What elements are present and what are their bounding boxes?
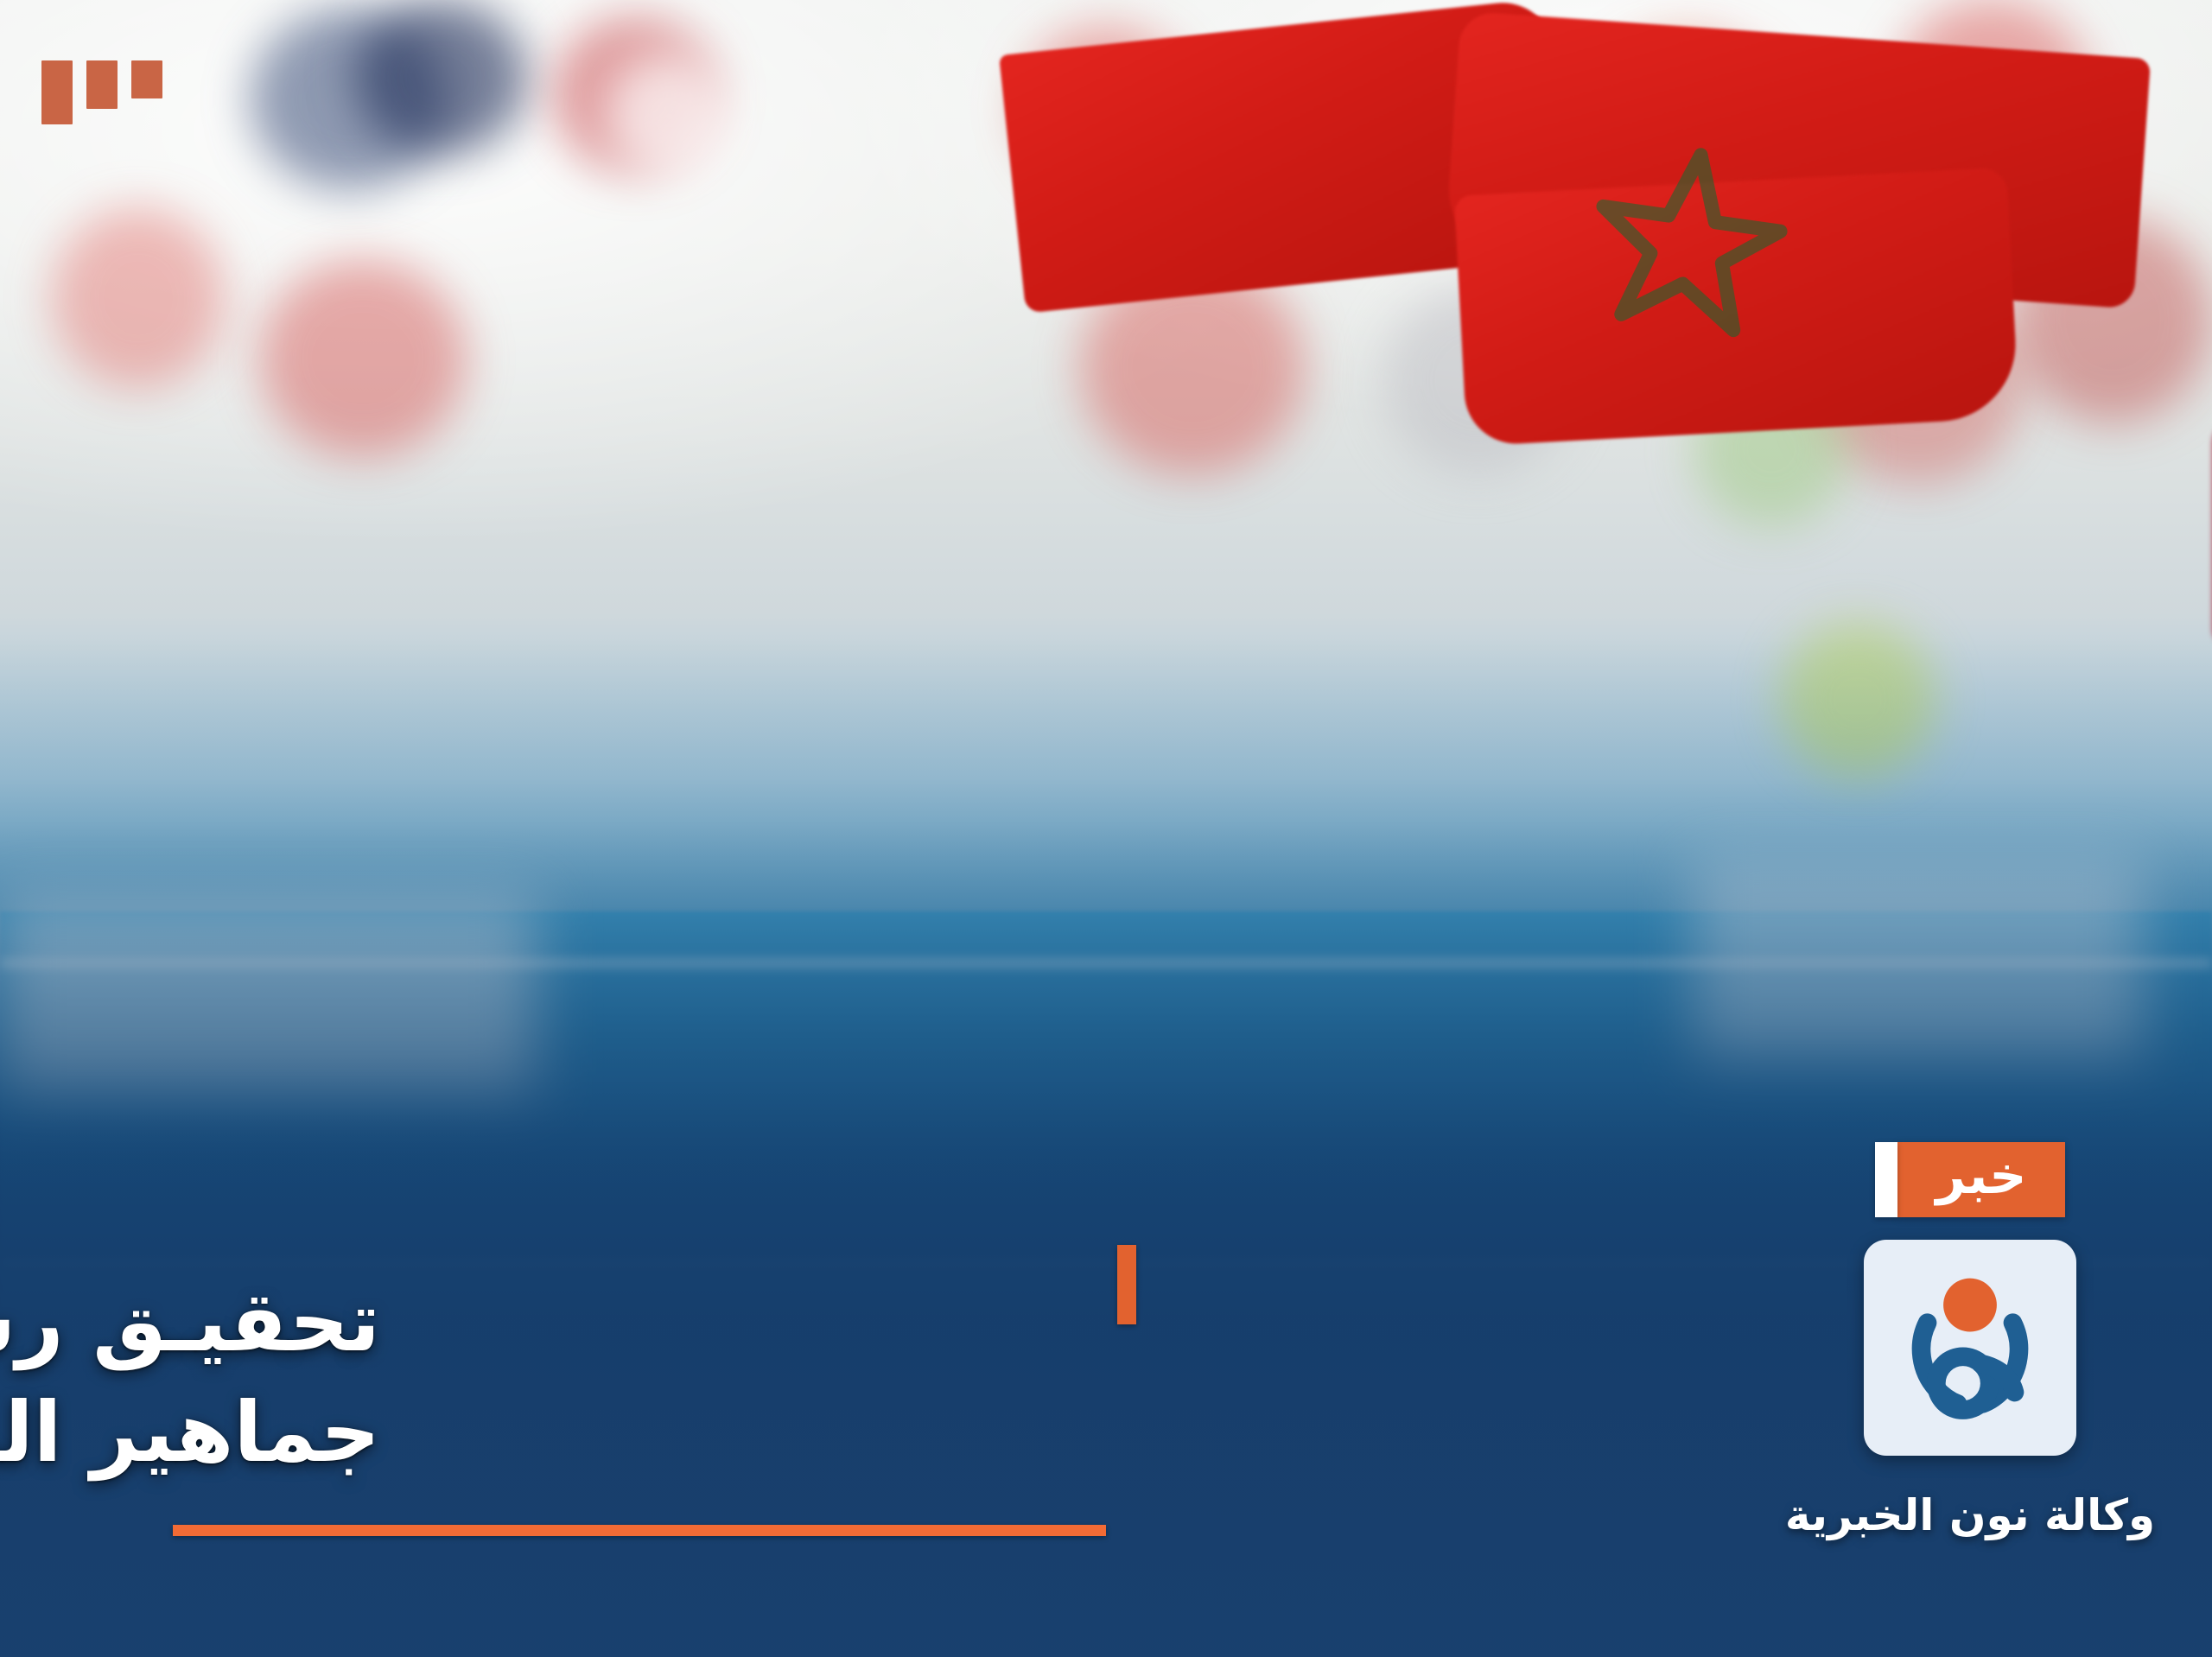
watermark-bar-3 — [131, 60, 162, 98]
headline: تحقيـق رسـمي فـي "الأولمبيـاد" بحادثـة ج… — [112, 1267, 380, 1489]
brand-tagline: وكالة نون الخبرية — [1785, 1490, 2155, 1540]
noon-news-agency-logo — [1864, 1240, 2076, 1456]
headline-line-1: تحقيـق رسـمي فـي "الأولمبيـاد" بحادثـة — [112, 1267, 380, 1378]
brand-column: خبر وكالة نون الخبرية — [1789, 1142, 2152, 1540]
news-badge-row: خبر — [1875, 1142, 2064, 1217]
moroccan-flag-star-icon — [1577, 125, 1802, 350]
crowd-blob — [259, 259, 467, 458]
headline-line-2: جماهير المغرب أمام فرنسا — [112, 1377, 380, 1489]
crowd-blob — [52, 207, 225, 389]
watermark-bar-1 — [41, 60, 73, 124]
accent-rule — [173, 1525, 1106, 1536]
watermark-bar-2 — [86, 60, 118, 109]
crowd-blob — [354, 0, 527, 156]
news-badge-bar — [1875, 1142, 1897, 1217]
accent-tick — [1117, 1245, 1136, 1324]
crowd-blob — [605, 52, 734, 181]
three-bars-mark — [41, 60, 162, 124]
news-badge: خبر — [1897, 1142, 2064, 1217]
news-card: تحقيـق رسـمي فـي "الأولمبيـاد" بحادثـة ج… — [0, 0, 2212, 1657]
